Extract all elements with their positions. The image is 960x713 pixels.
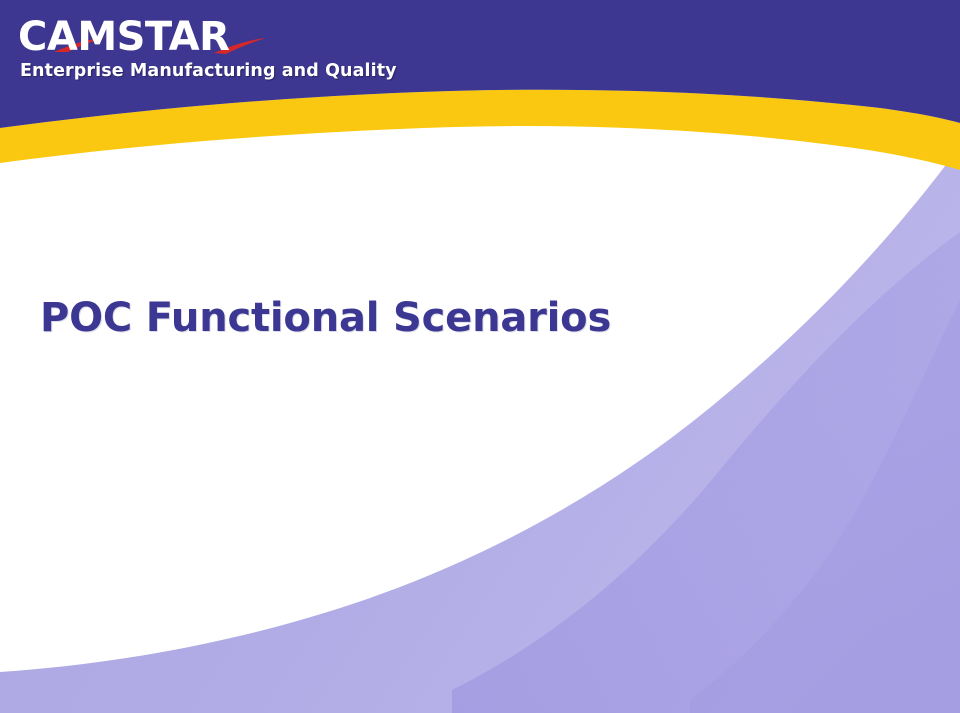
slide-background-art <box>0 0 960 713</box>
camstar-wordmark: CAMSTAR <box>18 14 318 60</box>
camstar-logo: CAMSTAR Enterprise Manufacturing and Qua… <box>18 14 397 81</box>
camstar-tagline: Enterprise Manufacturing and Quality <box>20 61 397 81</box>
slide-title: POC Functional Scenarios <box>40 296 611 341</box>
svg-text:CAMSTAR: CAMSTAR <box>18 14 229 60</box>
slide-body-content <box>40 370 640 590</box>
presentation-slide: CAMSTAR Enterprise Manufacturing and Qua… <box>0 0 960 713</box>
